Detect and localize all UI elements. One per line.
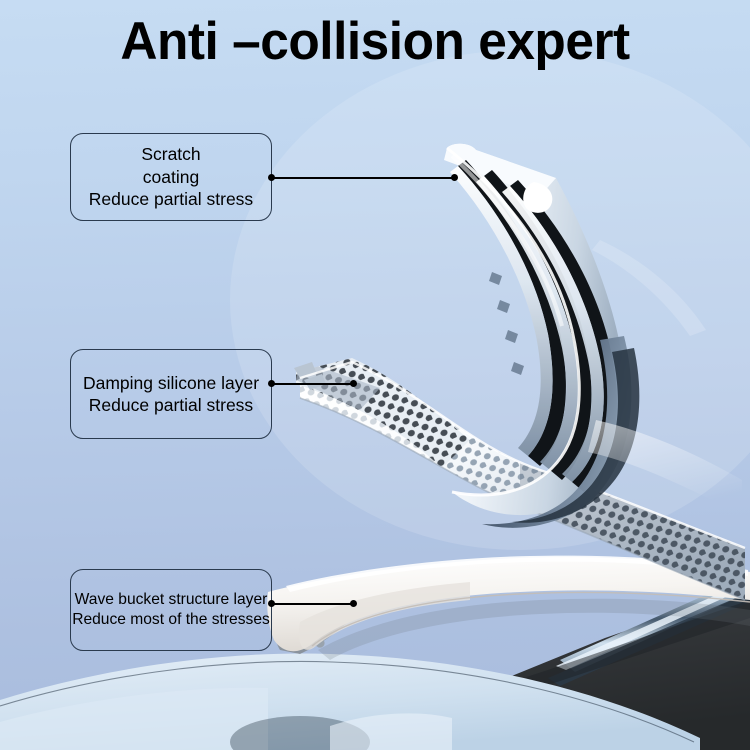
callout-line: Reduce partial stress <box>89 188 253 210</box>
callout-line: Scratch <box>141 143 200 165</box>
callout-line: Reduce most of the stresses <box>72 610 270 630</box>
connector-dot-end <box>350 600 357 607</box>
product-infographic: Anti –collision expert Scratch coating R… <box>0 0 750 750</box>
callout-damping-silicone-layer: Damping silicone layer Reduce partial st… <box>70 349 272 439</box>
page-title: Anti –collision expert <box>11 14 739 70</box>
connector-line-wave-bucket-structure-layer <box>271 603 355 605</box>
connector-dot-start <box>268 174 275 181</box>
callout-line: Reduce partial stress <box>89 394 253 416</box>
connector-line-scratch-coating <box>271 177 456 179</box>
connector-dot-end <box>451 174 458 181</box>
callout-scratch-coating: Scratch coating Reduce partial stress <box>70 133 272 221</box>
connector-line-damping-silicone-layer <box>271 383 355 385</box>
callout-line: Wave bucket structure layer <box>75 590 268 610</box>
callout-wave-bucket-structure-layer: Wave bucket structure layer Reduce most … <box>70 569 272 651</box>
connector-dot-start <box>268 380 275 387</box>
connector-dot-end <box>350 380 357 387</box>
callout-line: Damping silicone layer <box>83 372 259 394</box>
connector-dot-start <box>268 600 275 607</box>
callout-line: coating <box>143 166 199 188</box>
